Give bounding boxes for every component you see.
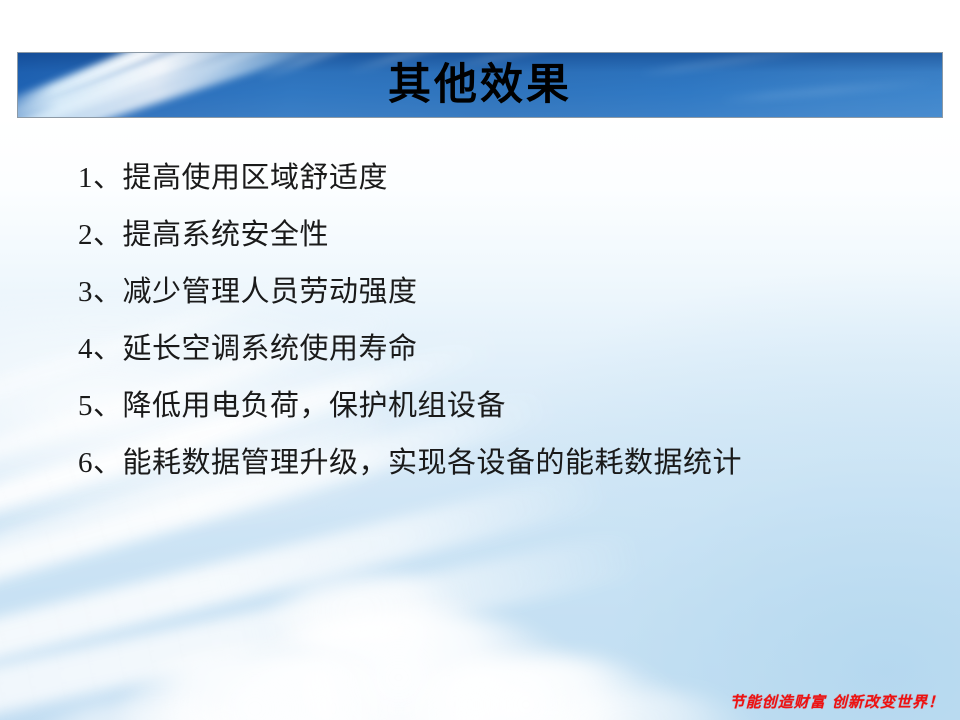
list-item: 3、减少管理人员劳动强度 — [78, 264, 908, 321]
list-item: 5、降低用电负荷，保护机组设备 — [78, 378, 908, 435]
list-item: 4、延长空调系统使用寿命 — [78, 321, 908, 378]
list-item: 6、能耗数据管理升级，实现各设备的能耗数据统计 — [78, 435, 908, 492]
list-item: 1、提高使用区域舒适度 — [78, 150, 908, 207]
page-title: 其他效果 — [388, 64, 572, 107]
content-list: 1、提高使用区域舒适度 2、提高系统安全性 3、减少管理人员劳动强度 4、延长空… — [78, 150, 908, 492]
presentation-slide: 其他效果 1、提高使用区域舒适度 2、提高系统安全性 3、减少管理人员劳动强度 … — [0, 0, 960, 720]
slide-title-banner: 其他效果 — [17, 52, 943, 118]
list-item: 2、提高系统安全性 — [78, 207, 908, 264]
footer-slogan: 节能创造财富 创新改变世界！ — [730, 691, 944, 712]
